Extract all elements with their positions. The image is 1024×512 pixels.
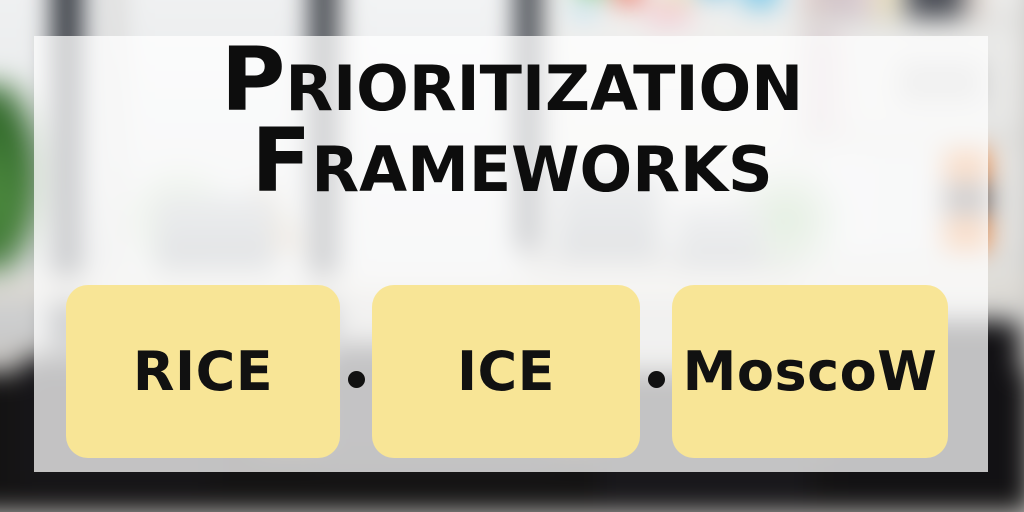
book	[817, 0, 828, 18]
book	[970, 0, 982, 18]
book	[840, 0, 852, 18]
framework-card-moscow[interactable]: MoscoW	[672, 285, 948, 458]
framework-card-ice[interactable]: ICE	[372, 285, 640, 458]
poster-canvas: Prioritization Frameworks RICE ICE Mosco…	[0, 0, 1024, 512]
framework-card-label: RICE	[133, 340, 273, 403]
page-title: Prioritization Frameworks	[0, 40, 1024, 202]
framework-card-rice[interactable]: RICE	[66, 285, 340, 458]
card-separator-1	[340, 285, 372, 458]
sticky-note-pink	[646, 4, 690, 24]
book	[856, 0, 865, 18]
shelf-divider-1	[796, 18, 1024, 23]
book	[882, 0, 892, 18]
framework-card-label: ICE	[457, 340, 555, 403]
title-line-2: Frameworks	[0, 121, 1024, 202]
card-separator-2	[640, 285, 672, 458]
bullet-dot-icon	[648, 371, 665, 388]
book	[868, 0, 878, 18]
framework-card-row: RICE ICE MoscoW	[66, 285, 948, 458]
sticky-note-red	[615, 0, 641, 4]
bullet-dot-icon	[348, 371, 365, 388]
sticky-note-cyan	[742, 0, 778, 8]
storage-box-dark	[906, 0, 964, 18]
book	[830, 0, 838, 18]
sticky-note-lightblue	[572, 0, 596, 18]
framework-card-label: MoscoW	[683, 340, 938, 403]
book	[806, 0, 815, 18]
